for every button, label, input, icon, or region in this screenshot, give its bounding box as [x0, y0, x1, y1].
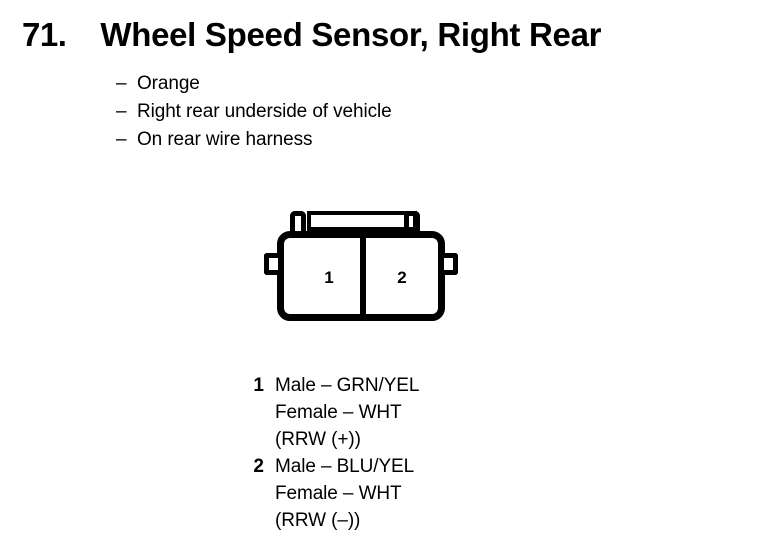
connector-pin-1-label: 1 — [319, 268, 339, 288]
pin-legend-line: Female – WHT — [275, 399, 419, 426]
list-item: – Orange — [116, 70, 392, 98]
connector-pin-2-label: 2 — [392, 268, 412, 288]
dash-icon: – — [116, 70, 137, 98]
list-item: – Right rear underside of vehicle — [116, 98, 392, 126]
pin-legend-lines: Male – GRN/YEL Female – WHT (RRW (+)) — [264, 372, 419, 453]
list-item-label: Orange — [137, 70, 200, 98]
list-item-label: Right rear underside of vehicle — [137, 98, 392, 126]
pin-legend-lines: Male – BLU/YEL Female – WHT (RRW (–)) — [264, 453, 414, 534]
pin-legend-line: Male – BLU/YEL — [275, 453, 414, 480]
description-list: – Orange – Right rear underside of vehic… — [116, 70, 392, 154]
page-title: 71. Wheel Speed Sensor, Right Rear — [22, 16, 601, 54]
connector-side-notch-right — [444, 253, 458, 275]
pin-legend-number: 2 — [238, 453, 264, 480]
list-item-label: On rear wire harness — [137, 126, 312, 154]
pin-legend-line: Female – WHT — [275, 480, 414, 507]
pin-legend-entry-2: 2 Male – BLU/YEL Female – WHT (RRW (–)) — [238, 453, 419, 534]
pin-legend-line: Male – GRN/YEL — [275, 372, 419, 399]
pin-legend-line: (RRW (–)) — [275, 507, 414, 534]
pin-legend-line: (RRW (+)) — [275, 426, 419, 453]
dash-icon: – — [116, 98, 137, 126]
connector-side-notch-left — [264, 253, 278, 275]
dash-icon: – — [116, 126, 137, 154]
pin-legend-number: 1 — [238, 372, 264, 399]
list-item: – On rear wire harness — [116, 126, 392, 154]
pin-legend-entry-1: 1 Male – GRN/YEL Female – WHT (RRW (+)) — [238, 372, 419, 453]
connector-latch-bar — [307, 211, 417, 231]
connector-diagram: 1 2 — [264, 206, 460, 324]
item-title: Wheel Speed Sensor, Right Rear — [100, 16, 601, 54]
connector-cavity-divider — [360, 233, 366, 319]
item-number: 71. — [22, 16, 66, 54]
pin-legend: 1 Male – GRN/YEL Female – WHT (RRW (+)) … — [238, 372, 419, 534]
